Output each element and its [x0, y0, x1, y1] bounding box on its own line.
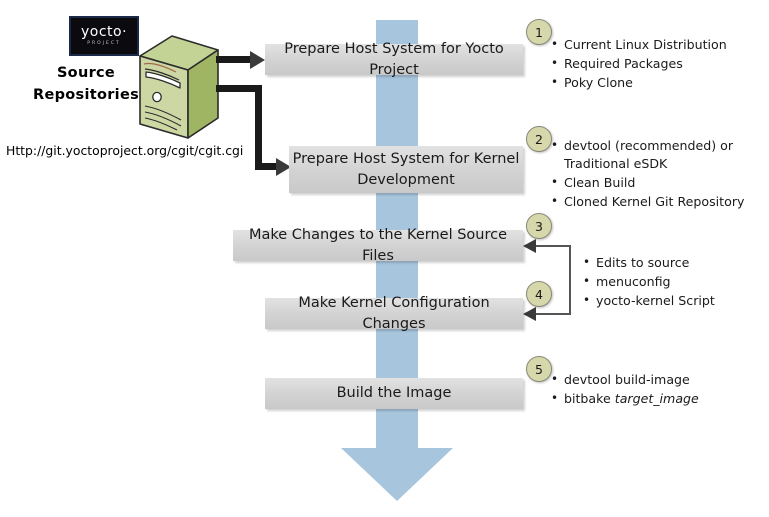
process-box-step5[interactable]: Build the Image	[265, 378, 523, 409]
feedback-bracket-bottom-line	[535, 313, 571, 315]
step-number-badge-4: 4	[526, 281, 552, 307]
connector-server-to-step1-arrowhead	[250, 51, 265, 69]
bullet-list-steps3-4: Edits to source menuconfig yocto-kernel …	[580, 254, 765, 311]
list-item: devtool (recommended) or Traditional eSD…	[562, 137, 763, 173]
feedback-bracket-arrowhead-step4	[523, 307, 536, 321]
list-item: Clean Build	[562, 174, 763, 192]
source-repository-url: Http://git.yoctoproject.org/cgit/cgit.cg…	[6, 143, 243, 158]
process-box-step3-label: Make Changes to the Kernel Source Files	[233, 225, 523, 266]
process-box-step2[interactable]: Prepare Host System for Kernel Developme…	[289, 146, 523, 193]
list-item: Poky Clone	[562, 74, 763, 92]
list-item: menuconfig	[594, 273, 765, 291]
main-flow-arrow-head	[341, 448, 453, 501]
list-item: Edits to source	[594, 254, 765, 272]
diagram-canvas: yocto· PROJECT Source Repositories Http:…	[0, 0, 769, 517]
source-repositories-label: Source Repositories	[26, 62, 146, 107]
process-box-step3[interactable]: Make Changes to the Kernel Source Files	[233, 230, 523, 261]
feedback-bracket-arrowhead-step3	[523, 239, 536, 253]
process-box-step1[interactable]: Prepare Host System for Yocto Project	[265, 44, 523, 75]
bullet-list-step2: devtool (recommended) or Traditional eSD…	[548, 137, 763, 213]
step-number-badge-3: 3	[526, 213, 552, 239]
yocto-logo-wordmark: yocto·	[81, 25, 127, 39]
source-label-line2: Repositories	[26, 84, 146, 106]
process-box-step4[interactable]: Make Kernel Configuration Changes	[265, 298, 523, 329]
list-item: Cloned Kernel Git Repository	[562, 193, 763, 211]
feedback-bracket-top-line	[535, 245, 571, 247]
list-item-emphasis: target_image	[615, 391, 699, 406]
bullet-list-step1: Current Linux Distribution Required Pack…	[548, 36, 763, 93]
list-item: Current Linux Distribution	[562, 36, 763, 54]
feedback-bracket-vertical-line	[569, 245, 571, 314]
process-box-step2-label: Prepare Host System for Kernel Developme…	[289, 149, 523, 190]
list-item: Required Packages	[562, 55, 763, 73]
process-box-step5-label: Build the Image	[337, 383, 452, 403]
yocto-logo-subtext: PROJECT	[87, 42, 120, 47]
process-box-step1-label: Prepare Host System for Yocto Project	[265, 39, 523, 80]
list-item: yocto-kernel Script	[594, 292, 765, 310]
source-label-line1: Source	[26, 62, 146, 84]
connector-server-to-step2-vertical	[255, 85, 262, 170]
list-item-text: bitbake	[564, 391, 615, 406]
list-item: bitbake target_image	[562, 390, 763, 408]
process-box-step4-label: Make Kernel Configuration Changes	[265, 293, 523, 334]
yocto-project-logo: yocto· PROJECT	[69, 16, 139, 56]
bullet-list-step5: devtool build-image bitbake target_image	[548, 371, 763, 409]
list-item: devtool build-image	[562, 371, 763, 389]
server-tower-icon	[136, 32, 222, 142]
